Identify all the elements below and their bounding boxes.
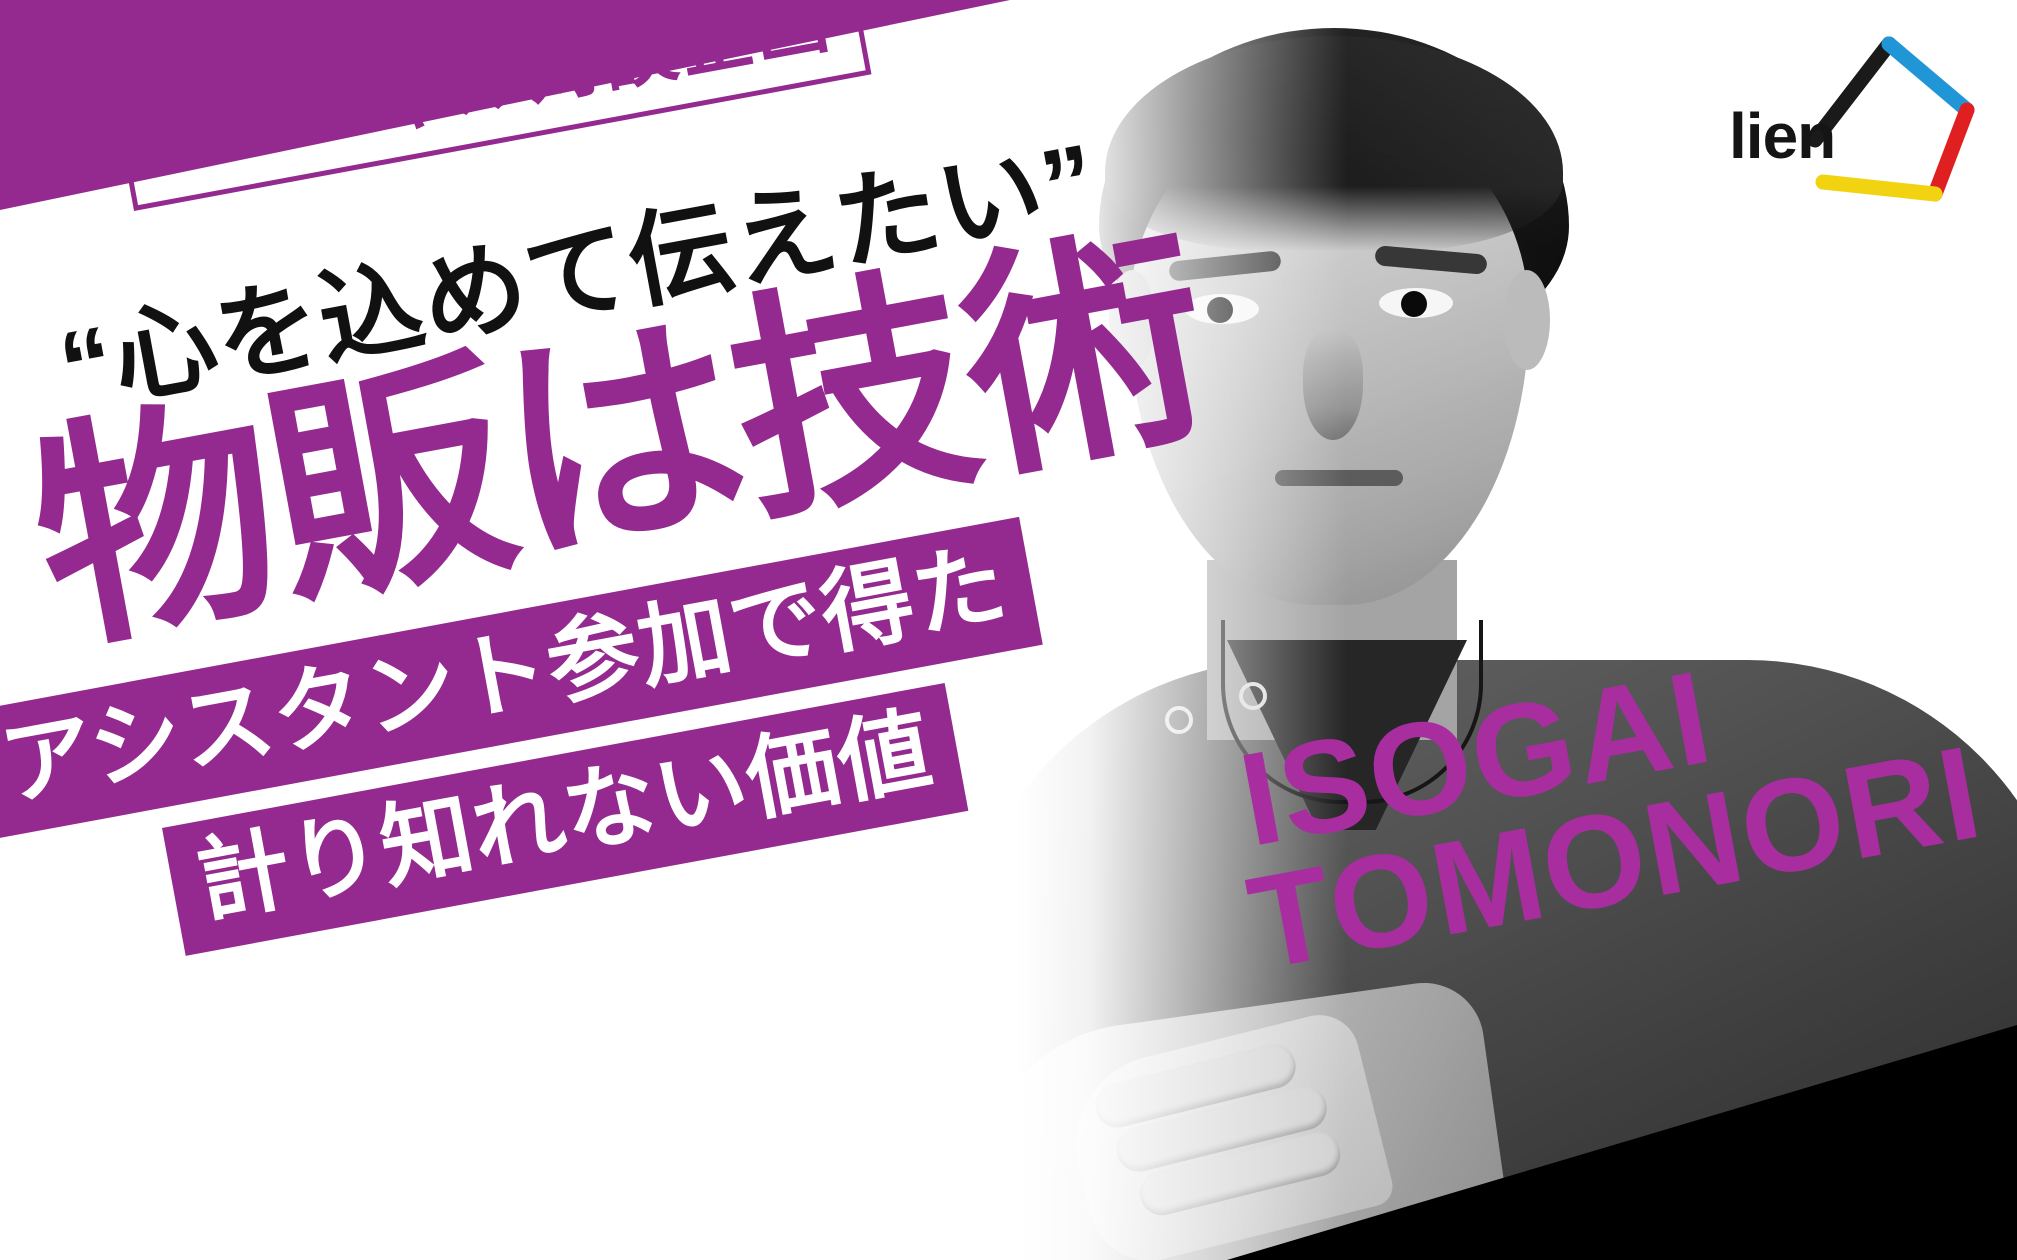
- lien-logo-text: lien: [1729, 104, 1835, 168]
- lien-logo[interactable]: lien: [1723, 22, 1993, 212]
- poster-canvas: スペシャル対談企画 “心を込めて伝えたい” 物販は技術 アシスタント参加で得た …: [0, 0, 2017, 1260]
